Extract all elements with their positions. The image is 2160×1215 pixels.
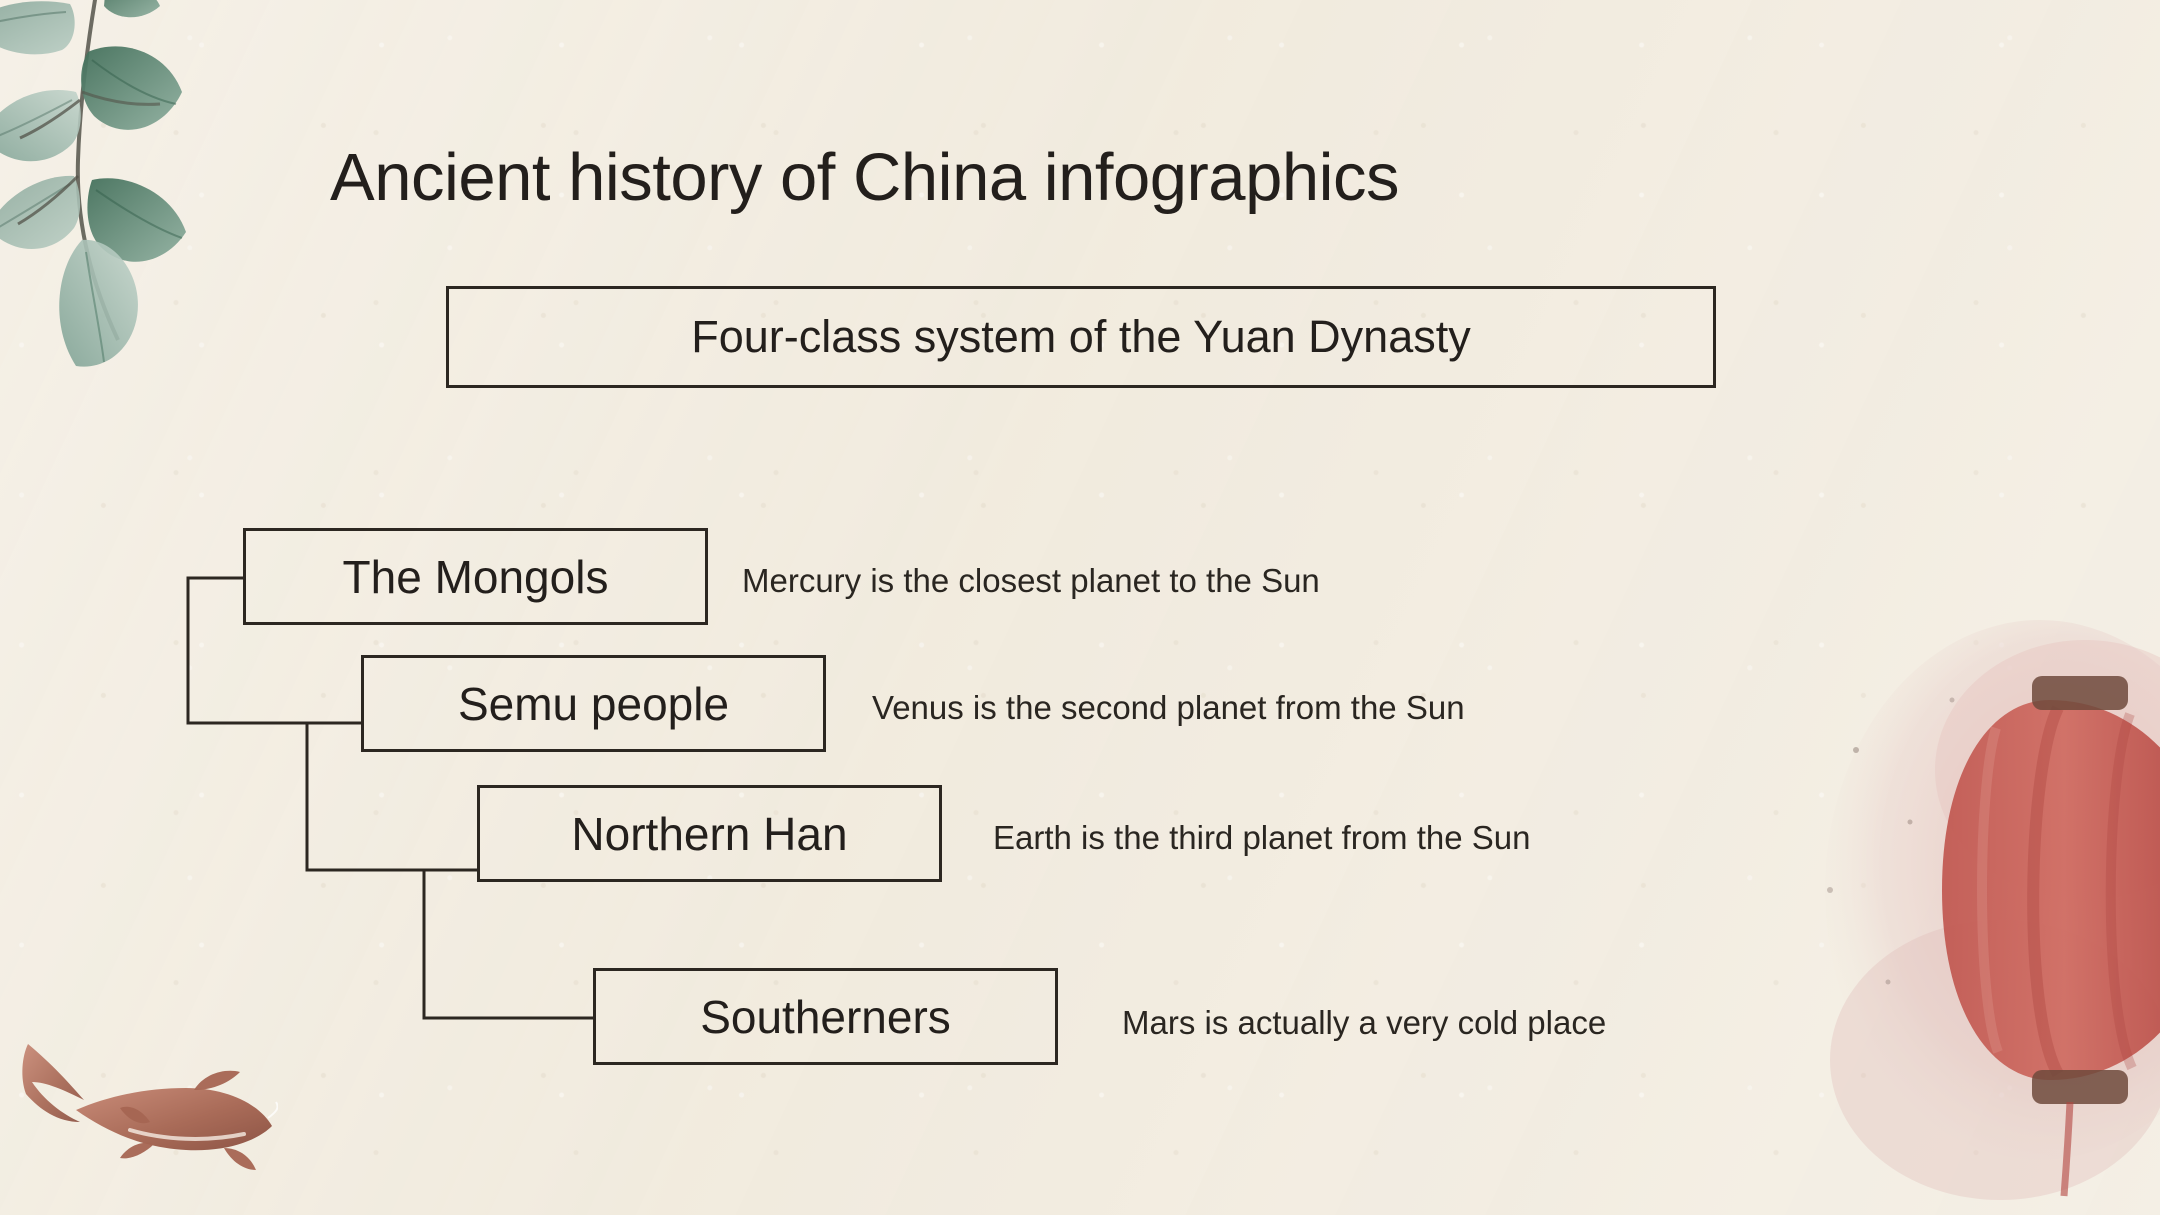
class-box-mongols[interactable]: The Mongols bbox=[243, 528, 708, 625]
eucalyptus-branch-icon bbox=[0, 0, 290, 380]
class-description: Mercury is the closest planet to the Sun bbox=[742, 562, 1320, 600]
chinese-lantern-icon bbox=[1800, 590, 2160, 1215]
subtitle-box: Four-class system of the Yuan Dynasty bbox=[446, 286, 1716, 388]
class-description: Earth is the third planet from the Sun bbox=[993, 819, 1530, 857]
class-box-southerners[interactable]: Southerners bbox=[593, 968, 1058, 1065]
class-label: The Mongols bbox=[343, 550, 609, 604]
class-box-northern-han[interactable]: Northern Han bbox=[477, 785, 942, 882]
subtitle-text: Four-class system of the Yuan Dynasty bbox=[691, 311, 1471, 363]
page-title: Ancient history of China infographics bbox=[330, 143, 1890, 213]
class-box-semu-people[interactable]: Semu people bbox=[361, 655, 826, 752]
class-label: Southerners bbox=[700, 990, 951, 1044]
koi-fish-icon bbox=[18, 1038, 278, 1215]
class-label: Semu people bbox=[458, 677, 729, 731]
slide-canvas: Ancient history of China infographics Fo… bbox=[0, 0, 2160, 1215]
class-label: Northern Han bbox=[571, 807, 847, 861]
class-description: Venus is the second planet from the Sun bbox=[872, 689, 1465, 727]
class-description: Mars is actually a very cold place bbox=[1122, 1004, 1606, 1042]
